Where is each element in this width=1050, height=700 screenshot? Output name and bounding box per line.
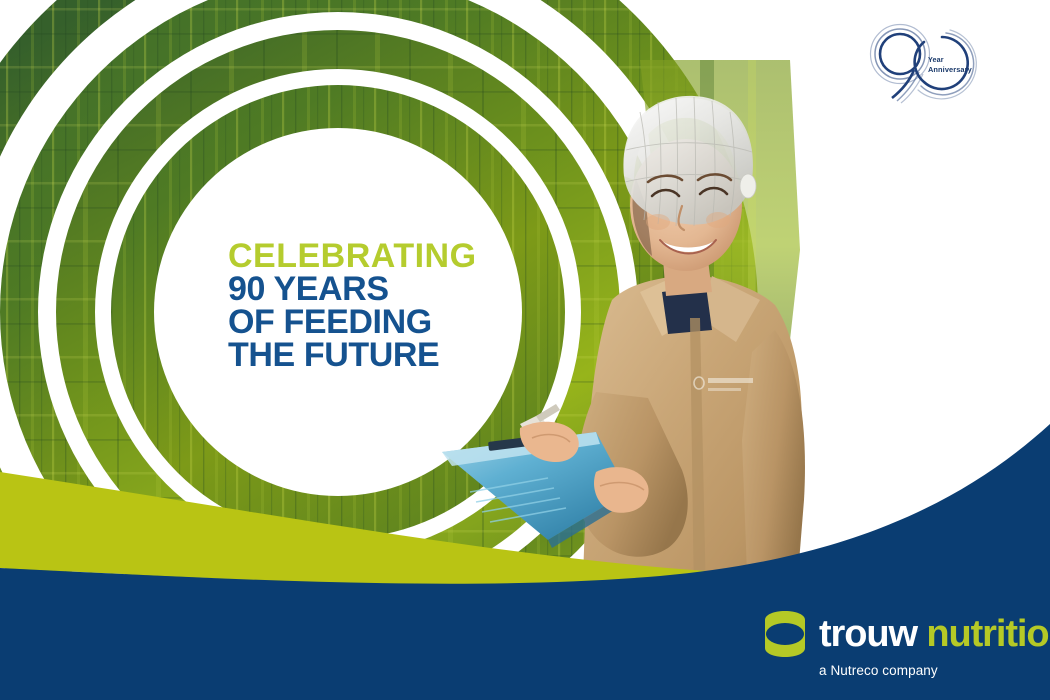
trouw-nutrition-logo: trouw nutrition a Nutreco company (762, 610, 1032, 682)
trouw-logo-mark (762, 610, 808, 658)
logo-word-nutrition: nutrition (926, 613, 1050, 655)
trouw-logo-wordmark: trouw nutrition (819, 615, 1050, 653)
wave-bands (0, 0, 1050, 700)
logo-word-trouw: trouw (819, 613, 917, 655)
anniversary-label: Anniversary (928, 65, 972, 74)
logo-tagline: a Nutreco company (819, 663, 1032, 678)
anniversary-badge-mark (866, 20, 986, 104)
anniversary-badge: Year Anniversary (866, 20, 986, 104)
poster-canvas: CELEBRATING 90 YEARS OF FEEDING THE FUTU… (0, 0, 1050, 700)
anniversary-year-label: Year (928, 55, 944, 64)
